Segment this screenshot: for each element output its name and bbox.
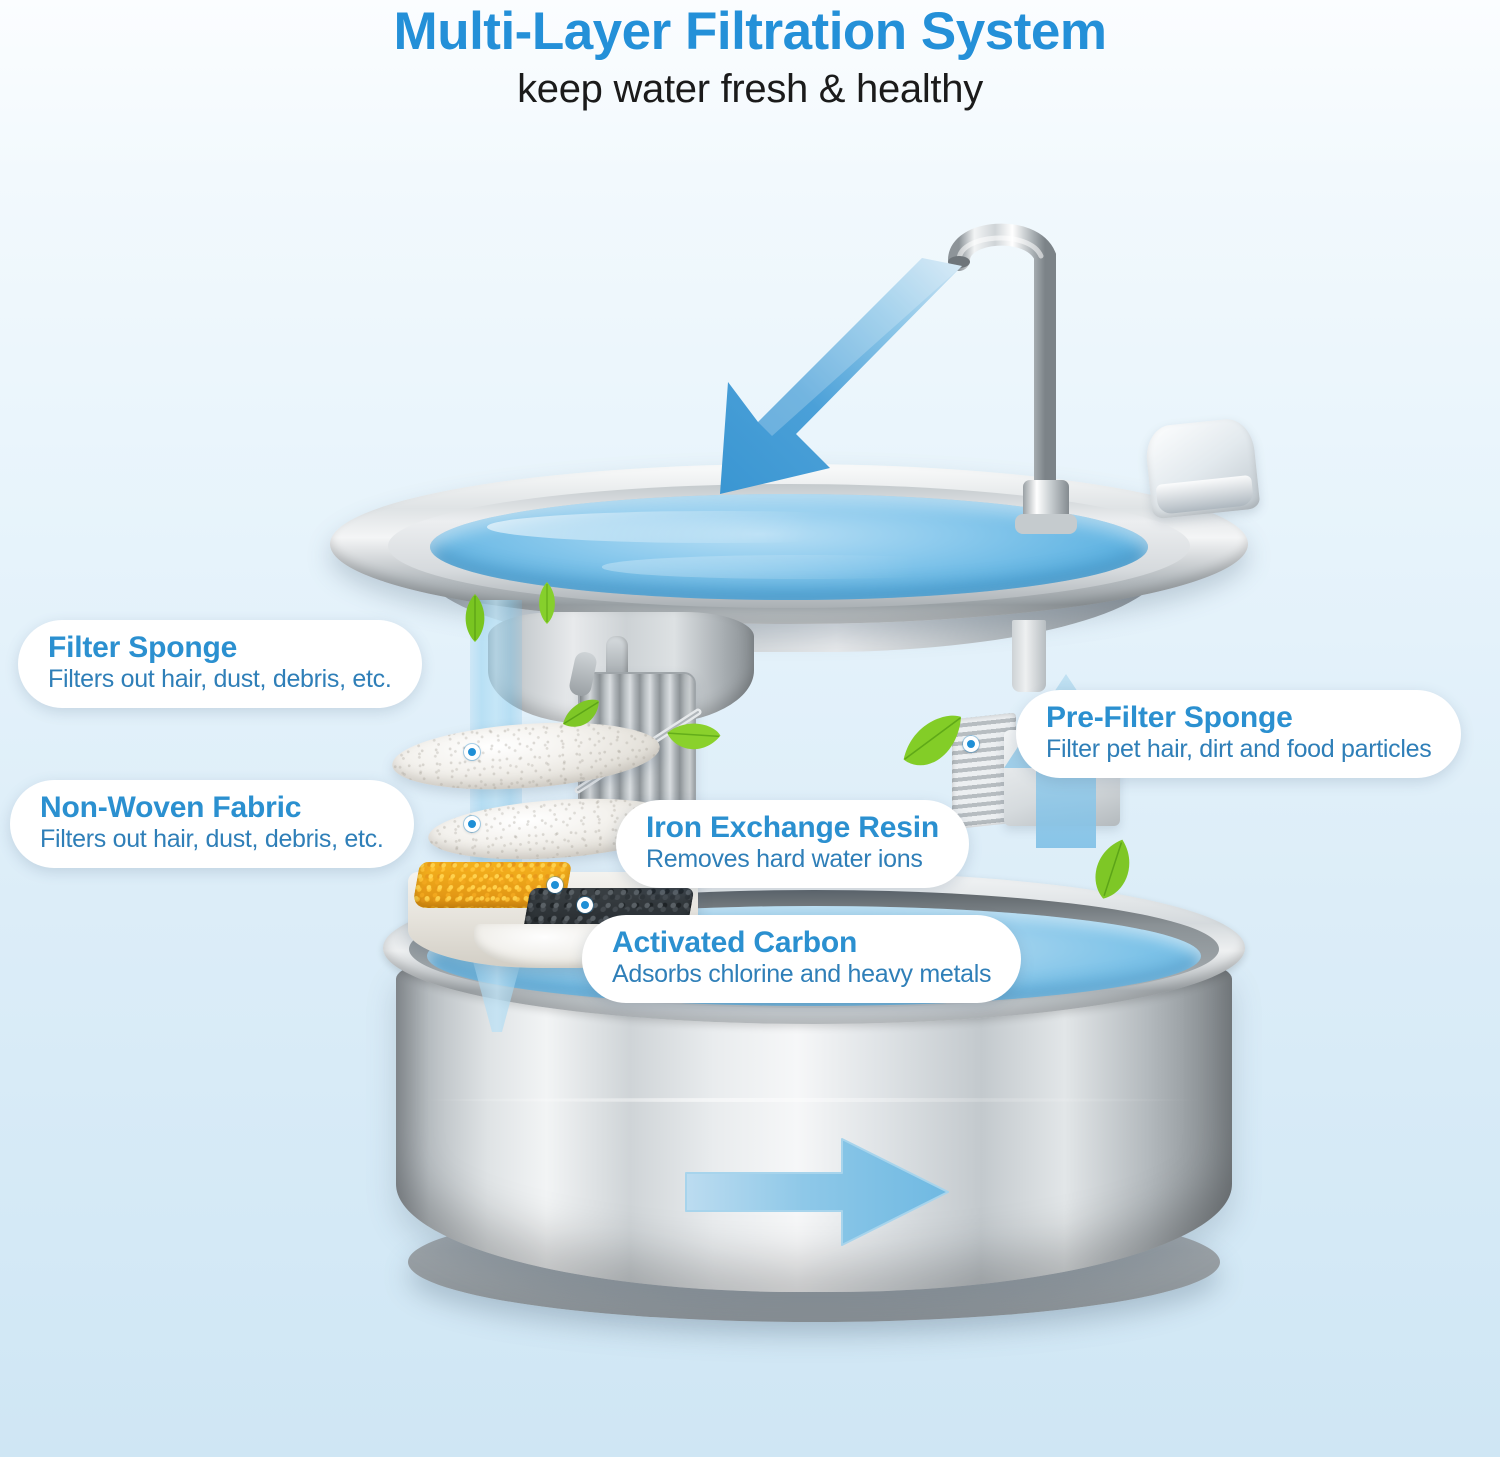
connector-dot-icon — [464, 816, 480, 832]
connector-dot-icon — [547, 877, 563, 893]
callout-title: Activated Carbon — [612, 926, 991, 960]
callout-non-woven-fabric[interactable]: Non-Woven Fabric Filters out hair, dust,… — [10, 780, 414, 868]
leaf-icon — [460, 592, 490, 649]
callout-desc: Filter pet hair, dirt and food particles — [1046, 735, 1431, 764]
callout-iron-exchange-resin[interactable]: Iron Exchange Resin Removes hard water i… — [616, 800, 969, 888]
callout-activated-carbon[interactable]: Activated Carbon Adsorbs chlorine and he… — [582, 915, 1021, 1003]
callout-desc: Filters out hair, dust, debris, etc. — [48, 665, 392, 694]
callout-title: Non-Woven Fabric — [40, 791, 384, 825]
callout-desc: Removes hard water ions — [646, 845, 939, 874]
connector-dot-icon — [464, 744, 480, 760]
leaf-icon — [534, 580, 560, 631]
callout-title: Iron Exchange Resin — [646, 811, 939, 845]
connector-dot-icon — [577, 897, 593, 913]
callout-pre-filter-sponge[interactable]: Pre-Filter Sponge Filter pet hair, dirt … — [1016, 690, 1461, 778]
leaf-icon — [893, 708, 976, 786]
callout-title: Pre-Filter Sponge — [1046, 701, 1431, 735]
bowl-rim-clip — [1143, 417, 1260, 520]
arrow-down-icon — [718, 258, 978, 508]
callout-title: Filter Sponge — [48, 631, 392, 665]
arrow-right-icon — [682, 1133, 952, 1251]
callout-filter-sponge[interactable]: Filter Sponge Filters out hair, dust, de… — [18, 620, 422, 708]
callout-desc: Filters out hair, dust, debris, etc. — [40, 825, 384, 854]
callout-desc: Adsorbs chlorine and heavy metals — [612, 960, 991, 989]
